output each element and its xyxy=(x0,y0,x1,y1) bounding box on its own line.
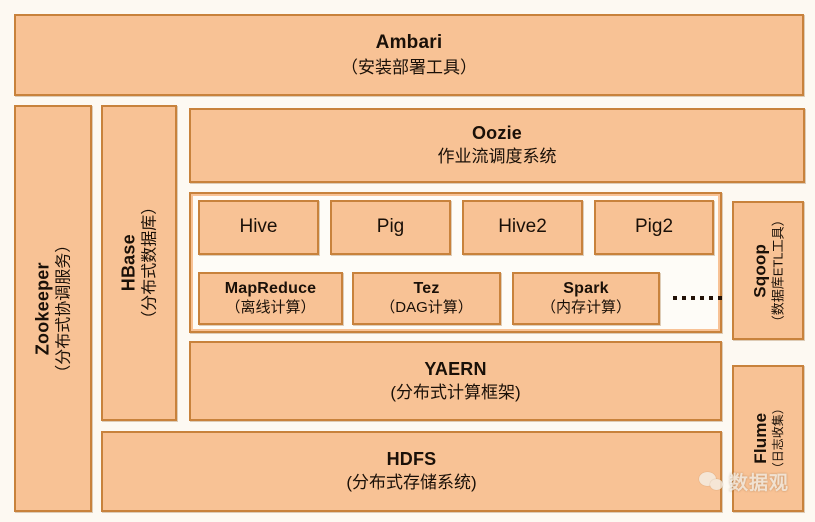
box-tez-name: Tez xyxy=(413,280,439,299)
box-pig-name: Pig xyxy=(377,216,404,239)
box-spark-desc: （内存计算） xyxy=(541,299,631,317)
ellipsis-dot xyxy=(700,296,704,300)
box-tez-desc: （DAG计算） xyxy=(380,299,473,317)
ellipsis-dot xyxy=(709,296,713,300)
ellipsis-dot xyxy=(682,296,686,300)
box-mapreduce-desc: （离线计算） xyxy=(225,299,315,317)
box-zookeeper-name: Zookeeper xyxy=(32,262,53,355)
box-zookeeper-desc: （分布式协调服务） xyxy=(55,236,74,380)
box-sqoop-label-wrap: Sqoop （数据库ETL工具） xyxy=(750,213,786,328)
ellipsis-dot xyxy=(673,296,677,300)
box-pig[interactable]: Pig xyxy=(330,200,451,255)
box-flume-label-wrap: Flume （日志收集） xyxy=(751,402,785,474)
box-flume-name: Flume xyxy=(751,413,771,464)
box-sqoop-name: Sqoop xyxy=(750,244,770,298)
box-spark-name: Spark xyxy=(563,280,608,299)
box-tez[interactable]: Tez （DAG计算） xyxy=(352,272,501,325)
box-yaern-name: YAERN xyxy=(424,359,486,380)
box-hbase-label-wrap: HBase （分布式数据库） xyxy=(118,199,159,327)
box-flume-desc: （日志收集） xyxy=(771,402,785,474)
box-mapreduce-name: MapReduce xyxy=(225,280,317,299)
box-hdfs-name: HDFS xyxy=(387,449,437,470)
box-oozie-desc: 作业流调度系统 xyxy=(438,147,557,167)
box-spark[interactable]: Spark （内存计算） xyxy=(512,272,660,325)
box-hbase-name: HBase xyxy=(118,234,139,291)
ellipsis-dot xyxy=(718,296,722,300)
box-hive2-name: Hive2 xyxy=(498,216,547,239)
box-oozie-name: Oozie xyxy=(472,123,522,144)
box-hdfs[interactable]: HDFS (分布式存储系统) xyxy=(101,431,722,512)
box-hive[interactable]: Hive xyxy=(198,200,319,255)
box-hive2[interactable]: Hive2 xyxy=(462,200,583,255)
box-ambari-desc: （安装部署工具） xyxy=(341,58,477,78)
box-ambari-name: Ambari xyxy=(376,32,443,54)
box-sqoop[interactable]: Sqoop （数据库ETL工具） xyxy=(732,201,804,340)
box-pig2[interactable]: Pig2 xyxy=(594,200,714,255)
box-sqoop-desc: （数据库ETL工具） xyxy=(770,213,786,328)
box-hive-name: Hive xyxy=(239,216,277,239)
box-zookeeper-label-wrap: Zookeeper （分布式协调服务） xyxy=(32,236,73,380)
box-zookeeper[interactable]: Zookeeper （分布式协调服务） xyxy=(14,105,92,512)
box-ambari[interactable]: Ambari （安装部署工具） xyxy=(14,14,804,96)
hadoop-ecosystem-diagram: Ambari （安装部署工具） Zookeeper （分布式协调服务） HBas… xyxy=(0,0,815,522)
compute-layer-ellipsis xyxy=(673,296,722,300)
box-flume[interactable]: Flume （日志收集） xyxy=(732,365,804,512)
box-yaern-desc: (分布式计算框架) xyxy=(390,383,520,403)
ellipsis-dot xyxy=(691,296,695,300)
box-oozie[interactable]: Oozie 作业流调度系统 xyxy=(189,108,805,183)
box-mapreduce[interactable]: MapReduce （离线计算） xyxy=(198,272,343,325)
box-yaern[interactable]: YAERN (分布式计算框架) xyxy=(189,341,722,421)
box-hbase[interactable]: HBase （分布式数据库） xyxy=(101,105,177,421)
box-pig2-name: Pig2 xyxy=(635,216,673,239)
box-hdfs-desc: (分布式存储系统) xyxy=(346,473,476,493)
box-hbase-desc: （分布式数据库） xyxy=(141,199,160,327)
